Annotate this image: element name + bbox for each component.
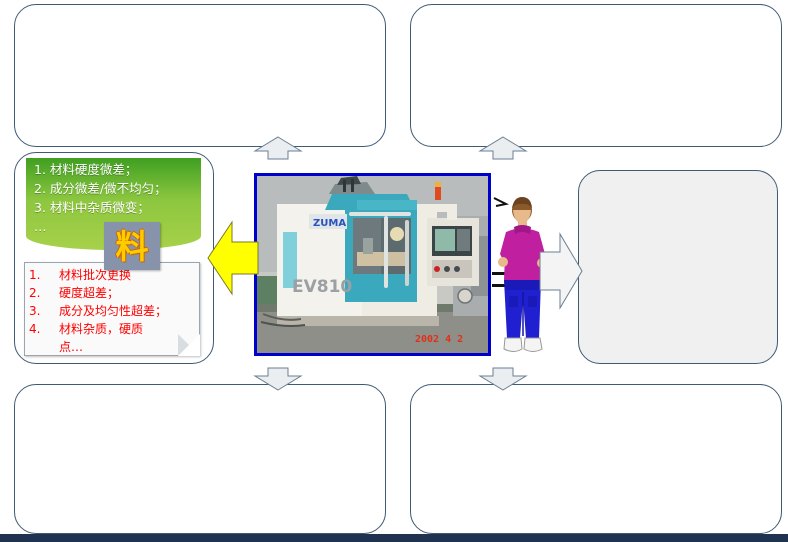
note-item-4-text: 材料杂质，硬质 [59,320,197,338]
note-item-3: 3. 成分及均匀性超差； [29,302,197,320]
arrow-right-gray [540,232,582,310]
note-item-5-num [29,338,59,356]
green-line-1: 1. 材料硬度微差； [30,160,201,179]
arrow-down-right [480,368,526,390]
note-item-2: 2. 硬度超差； [29,284,197,302]
note-item-4: 4. 材料杂质，硬质 [29,320,197,338]
material-major-causes-note[interactable]: 1. 材料批次更换 2. 硬度超差； 3. 成分及均匀性超差； 4. 材料杂质，… [24,262,200,356]
note-item-5-text: 点… [59,338,197,356]
note-item-3-num: 3. [29,302,59,320]
arrow-left-yellow [208,222,258,294]
note-item-3-text: 成分及均匀性超差； [59,302,197,320]
note-item-5: 点… [29,338,197,356]
panel-bottom-right[interactable] [410,384,782,534]
panel-bottom-left[interactable] [14,384,386,534]
photo-model-label: EV810 [292,277,352,297]
arrow-down-left [255,368,301,390]
note-fold-corner [178,334,200,356]
panel-top-left[interactable] [14,4,386,147]
note-item-2-text: 硬度超差； [59,284,197,302]
arrow-up-left [255,137,301,159]
note-item-2-num: 2. [29,284,59,302]
panel-middle-right[interactable] [578,170,778,364]
note-item-1-num: 1. [29,266,59,284]
bottom-accent-bar [0,534,788,542]
panel-top-right[interactable] [410,4,782,147]
material-category-badge[interactable]: 料 [104,222,160,270]
note-item-4-num: 4. [29,320,59,338]
material-category-badge-label: 料 [116,230,149,263]
photo-brand-label: ZUMA [313,218,346,229]
photo-date-stamp: 2002 4 2 [415,334,463,345]
green-line-3: 3. 材料中杂质微变； [30,198,201,217]
arrow-up-right [480,137,526,159]
cnc-machining-center-photo[interactable]: EV810 ZUMA 2002 4 2 [254,173,491,356]
green-line-2: 2. 成分微差/微不均匀； [30,179,201,198]
slide-canvas: 1. 材料硬度微差； 2. 成分微差/微不均匀； 3. 材料中杂质微变； … 1… [0,0,788,542]
